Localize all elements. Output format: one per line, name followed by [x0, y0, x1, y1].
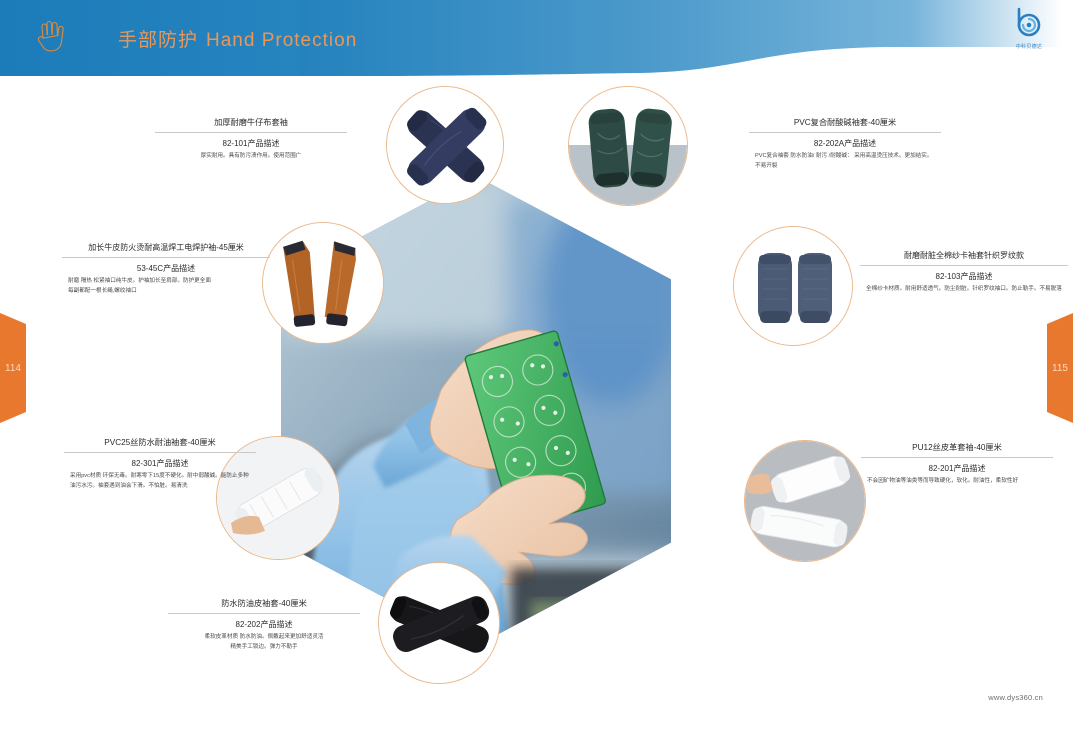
- product-text-82-202A: PVC复合耐酸碱袖套-40厘米 82-202A产品描述 PVC复合袖套 防水防油…: [749, 117, 941, 172]
- pvc-composite-sleeve-photo: [568, 86, 688, 206]
- page-number-right-label: 115: [1052, 363, 1068, 374]
- product-text-82-202: 防水防油皮袖套-40厘米 82-202产品描述 柔软皮革材质 防水防油。佩戴起来…: [168, 598, 360, 653]
- footer-website: www.dys360.cn: [988, 693, 1043, 702]
- product-code: 82-202A产品描述: [749, 138, 941, 149]
- product-desc: PVC复合袖套 防水防油/ 耐污 /耐酸碱： 采用高温烫压技术。更加结实。不易开…: [749, 152, 941, 172]
- product-code: 53-45C产品描述: [62, 263, 270, 274]
- page-header: 手部防护Hand Protection: [0, 0, 1073, 76]
- product-desc: 采用pvc材质 环保无毒。耐寒零下15度不硬化。耐中弱酸碱。能防止多种油污水污。…: [64, 472, 256, 492]
- product-code: 82-202产品描述: [168, 619, 360, 630]
- denim-sleeve-illustration: [387, 87, 503, 203]
- black-leather-illustration: [379, 563, 499, 683]
- product-code: 82-103产品描述: [860, 271, 1068, 282]
- brand-logo-text: 中科贝德达: [1001, 43, 1057, 50]
- cotton-knit-sleeve-photo: [733, 226, 853, 346]
- product-desc: 不会因矿物油等油类等而导致硬化，软化。耐油性，柔软性好: [861, 477, 1053, 487]
- pu-leather-sleeve-photo: [744, 440, 866, 562]
- product-title: 防水防油皮袖套-40厘米: [168, 598, 360, 614]
- product-code: 82-301产品描述: [64, 458, 256, 469]
- product-code: 82-101产品描述: [155, 138, 347, 149]
- denim-sleeve-photo: [386, 86, 504, 204]
- product-title: PVC25丝防水耐油袖套-40厘米: [64, 437, 256, 453]
- product-desc-line2: 精美手工锁边。弹力不勒手: [168, 643, 360, 653]
- page-number-right: 115: [1047, 313, 1073, 423]
- product-text-53-45C: 加长牛皮防火烫耐高温焊工电焊护袖-45厘米 53-45C产品描述 耐磨 隔热 松…: [62, 242, 270, 297]
- product-text-82-101: 加厚耐磨牛仔布套袖 82-101产品描述 厚实耐用。具有防污渍作用。使用范围广: [155, 117, 347, 162]
- product-desc: 厚实耐用。具有防污渍作用。使用范围广: [155, 152, 347, 162]
- product-title: 耐磨耐脏全棉纱卡袖套针织罗纹款: [860, 250, 1068, 266]
- cotton-knit-illustration: [734, 227, 852, 345]
- product-text-82-301: PVC25丝防水耐油袖套-40厘米 82-301产品描述 采用pvc材质 环保无…: [64, 437, 256, 492]
- pu-leather-illustration: [745, 441, 865, 561]
- brand-logo-mark: [1010, 6, 1048, 42]
- page-number-left: 114: [0, 313, 26, 423]
- product-code: 82-201产品描述: [861, 463, 1053, 474]
- leather-welding-sleeve-photo: [262, 222, 384, 344]
- product-text-82-103: 耐磨耐脏全棉纱卡袖套针织罗纹款 82-103产品描述 全棉纱卡材质。耐用舒适透气…: [860, 250, 1068, 295]
- page-number-left-label: 114: [5, 363, 21, 374]
- product-title: 加长牛皮防火烫耐高温焊工电焊护袖-45厘米: [62, 242, 270, 258]
- brand-logo: 中科贝德达: [1001, 6, 1057, 58]
- product-desc-line2: 每副都配一根长绳,螺纹袖口: [62, 287, 270, 297]
- leather-welding-illustration: [263, 223, 383, 343]
- product-title: PU12丝皮革套袖-40厘米: [861, 442, 1053, 458]
- product-desc: 耐磨 隔热 松紧袖口纯牛皮。护袖加长至肩部。防护更全面: [62, 277, 270, 287]
- product-title: 加厚耐磨牛仔布套袖: [155, 117, 347, 133]
- product-desc: 全棉纱卡材质。耐用舒适透气。防尘耐脏。针织罗纹袖口。防止勒手。不易脱落: [860, 285, 1068, 295]
- catalog-page: 手部防护Hand Protection 中科贝德达 114 115: [0, 0, 1073, 732]
- header-curve-shape: [0, 47, 1073, 76]
- product-desc: 柔软皮革材质 防水防油。佩戴起来更加舒适灵活: [168, 633, 360, 643]
- product-text-82-201: PU12丝皮革套袖-40厘米 82-201产品描述 不会因矿物油等油类等而导致硬…: [861, 442, 1053, 487]
- product-title: PVC复合耐酸碱袖套-40厘米: [749, 117, 941, 133]
- black-leather-sleeve-photo: [378, 562, 500, 684]
- pvc-composite-illustration: [569, 87, 687, 205]
